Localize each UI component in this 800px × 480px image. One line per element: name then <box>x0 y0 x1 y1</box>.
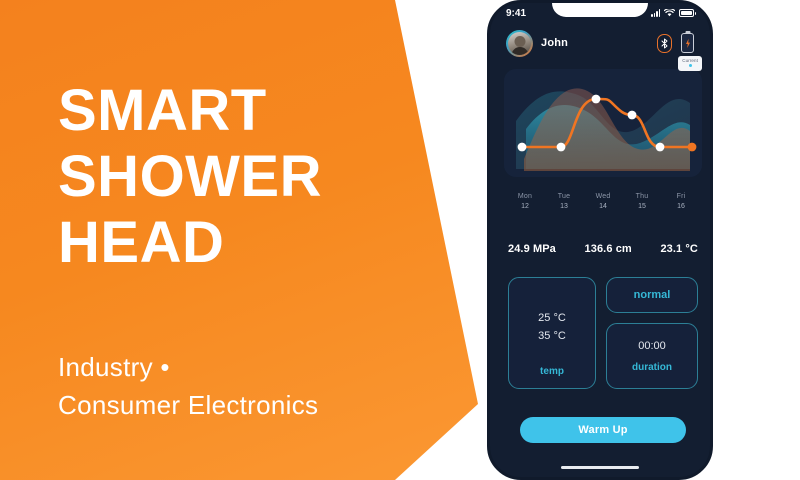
home-indicator <box>561 466 639 469</box>
day-number: 14 <box>586 203 620 210</box>
chart-point-fri[interactable] <box>656 143 665 152</box>
day-name: Fri <box>664 193 698 200</box>
day-number: 13 <box>547 203 581 210</box>
promo-subtitle-line-2: Consumer Electronics <box>58 386 418 424</box>
phone-screen: 9:41 John <box>490 3 710 477</box>
chart-point-wed[interactable] <box>592 95 601 104</box>
day-name: Wed <box>586 193 620 200</box>
mode-card[interactable]: normal <box>606 277 698 313</box>
avatar[interactable] <box>506 30 533 57</box>
battery-charging-icon[interactable] <box>681 33 694 53</box>
temp-max-value: 35 °C <box>538 330 566 342</box>
duration-value: 00:00 <box>638 340 666 352</box>
chart-svg <box>504 69 702 177</box>
chart-point-current[interactable] <box>688 143 697 152</box>
reading-distance: 136.6 cm <box>585 243 632 255</box>
duration-card[interactable]: 00:00 duration <box>606 323 698 389</box>
promo-title-line-1: SMART <box>58 78 418 144</box>
avatar-image <box>508 32 531 55</box>
day-column-thu[interactable]: Thu 15 <box>625 193 659 210</box>
wifi-icon <box>664 4 675 22</box>
reading-pressure: 24.9 MPa <box>508 243 556 255</box>
user-name: John <box>541 37 568 49</box>
phone-mockup: 9:41 John <box>487 0 713 480</box>
promo-panel: SMART SHOWER HEAD Industry • Consumer El… <box>0 0 500 480</box>
day-column-tue[interactable]: Tue 13 <box>547 193 581 210</box>
promo-subtitle-block: Industry • Consumer Electronics <box>58 348 418 424</box>
chart-point-tue[interactable] <box>557 143 566 152</box>
reading-temperature: 23.1 °C <box>660 243 698 255</box>
temp-values: 25 °C 35 °C <box>538 288 566 366</box>
right-control-column: normal 00:00 duration <box>606 277 698 389</box>
warm-up-button[interactable]: Warm Up <box>520 417 686 443</box>
chart-point-mon[interactable] <box>518 143 527 152</box>
promo-title-line-2: SHOWER <box>58 144 418 210</box>
sensor-readings: 24.9 MPa 136.6 cm 23.1 °C <box>504 243 702 255</box>
day-column-wed[interactable]: Wed 14 <box>586 193 620 210</box>
day-name: Thu <box>625 193 659 200</box>
day-number: 16 <box>664 203 698 210</box>
day-number: 15 <box>625 203 659 210</box>
chart-point-thu[interactable] <box>628 111 637 120</box>
signal-icon <box>651 9 660 17</box>
duration-card-label: duration <box>632 362 672 373</box>
status-time: 9:41 <box>506 8 526 19</box>
temp-min-value: 25 °C <box>538 312 566 324</box>
promo-subtitle-line-1: Industry • <box>58 348 418 386</box>
temp-card-label: temp <box>540 366 564 377</box>
promo-title-line-3: HEAD <box>58 210 418 276</box>
day-number: 12 <box>508 203 542 210</box>
temp-card[interactable]: 25 °C 35 °C temp <box>508 277 596 389</box>
bluetooth-icon[interactable] <box>657 34 672 53</box>
header-icons <box>657 33 694 53</box>
day-column-mon[interactable]: Mon 12 <box>508 193 542 210</box>
activity-chart[interactable] <box>504 69 702 177</box>
phone-notch <box>552 3 648 17</box>
app-header: John <box>490 27 710 59</box>
day-name: Mon <box>508 193 542 200</box>
control-cards: 25 °C 35 °C temp normal 00:00 duration <box>508 277 698 389</box>
mode-value: normal <box>634 289 671 301</box>
promo-title-block: SMART SHOWER HEAD <box>58 78 418 276</box>
day-name: Tue <box>547 193 581 200</box>
battery-icon <box>679 9 694 17</box>
day-column-fri[interactable]: Fri 16 <box>664 193 698 210</box>
chart-tooltip-dot <box>689 64 692 67</box>
status-icons <box>651 4 694 22</box>
chart-day-axis: Mon 12 Tue 13 Wed 14 Thu 15 Fri 16 <box>504 193 702 210</box>
